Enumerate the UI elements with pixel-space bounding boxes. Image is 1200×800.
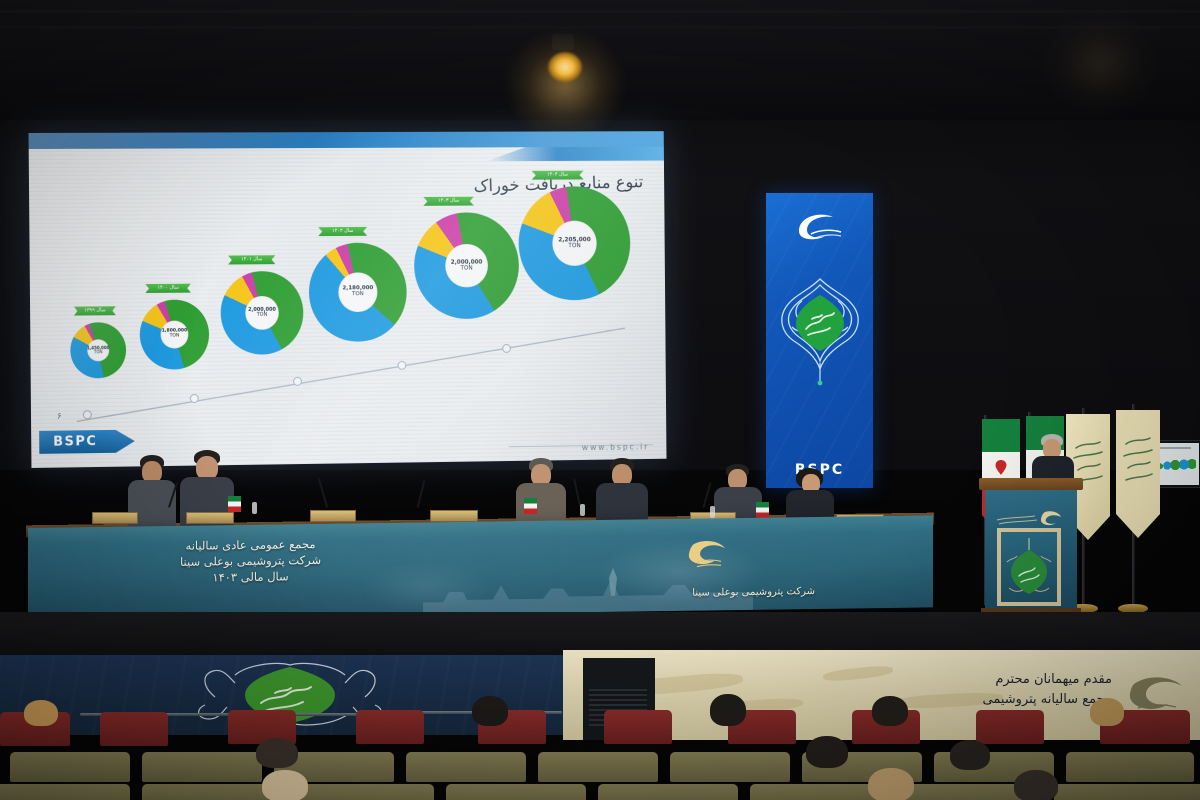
audience-seat (670, 752, 790, 782)
head-table-text: مجمع عمومی عادی سالیانه شرکت پتروشیمی بو… (180, 536, 321, 586)
desk-flag-iran (524, 498, 537, 514)
attendee-head (710, 694, 746, 726)
audience-seat (976, 710, 1044, 744)
attendee-head (806, 736, 848, 768)
audience-seat (446, 784, 586, 800)
attendee-head (24, 700, 58, 726)
slide-surface: تنوع منابع دریافت خوراک سال ۱۳۹۹ 1,450,0… (29, 131, 667, 468)
bspc-swoosh-logo-icon (791, 209, 849, 243)
attendee-head (868, 768, 914, 800)
microphone (318, 478, 328, 507)
nameplate (186, 512, 234, 524)
attendee-head (1090, 698, 1124, 726)
head-table-banner: مجمع عمومی عادی سالیانه شرکت پتروشیمی بو… (28, 515, 933, 620)
microphone (702, 482, 711, 508)
attendee-head (950, 740, 990, 770)
head-table-right-text: شرکت پتروشیمی بوعلی سینا (692, 586, 815, 599)
audience-seat (598, 784, 738, 800)
audience-seat (10, 752, 130, 782)
table-line-1: مجمع عمومی عادی سالیانه (180, 536, 321, 554)
nameplate (430, 510, 478, 522)
cream-line-1: مقدم میهمانان محترم (983, 670, 1113, 690)
audience-seat (142, 784, 282, 800)
calligraphy-medallion-icon (772, 273, 868, 388)
table-line-2: شرکت پتروشیمی بوعلی سینا (180, 552, 321, 570)
table-line-3: سال مالی ۱۴۰۳ (180, 568, 321, 586)
panelist (516, 458, 566, 528)
audience-seat (142, 752, 262, 782)
spotlight-glow-secondary (1040, 8, 1160, 118)
microphone (573, 478, 581, 506)
water-bottle (252, 502, 257, 514)
panelist (596, 458, 648, 528)
podium (985, 478, 1077, 618)
desk-flag-iran (756, 502, 769, 518)
audience-seat (1054, 784, 1200, 800)
audience-seat (1066, 752, 1194, 782)
auditorium-scene: تنوع منابع دریافت خوراک سال ۱۳۹۹ 1,450,0… (0, 0, 1200, 800)
attendee-head (872, 696, 908, 726)
audience-seat (0, 784, 130, 800)
spotlight-lamp (548, 52, 582, 82)
water-bottle (710, 506, 715, 518)
podium-company-logo-icon (993, 508, 1067, 528)
attendee-head (262, 770, 308, 800)
audience-seat (538, 752, 658, 782)
nameplate (92, 512, 138, 524)
audience-area (0, 700, 1200, 800)
audience-seat (356, 710, 424, 744)
audience-seat (604, 710, 672, 744)
projection-screen: تنوع منابع دریافت خوراک سال ۱۳۹۹ 1,450,0… (29, 131, 667, 468)
audience-seat (100, 712, 168, 746)
spotlight-glow (505, 30, 625, 140)
pillar-banner: BSPC (766, 193, 873, 488)
desk-flag-iran (228, 496, 241, 512)
nameplate (310, 510, 356, 522)
audience-seat (406, 752, 526, 782)
attendee-head (1014, 770, 1058, 800)
table-company-logo-icon (677, 534, 733, 575)
attendee-head (472, 696, 508, 726)
attendee-head (256, 738, 298, 768)
audience-seat (294, 784, 434, 800)
podium-ornament-panel (997, 528, 1061, 606)
microphone (417, 480, 426, 508)
water-bottle (580, 504, 585, 516)
